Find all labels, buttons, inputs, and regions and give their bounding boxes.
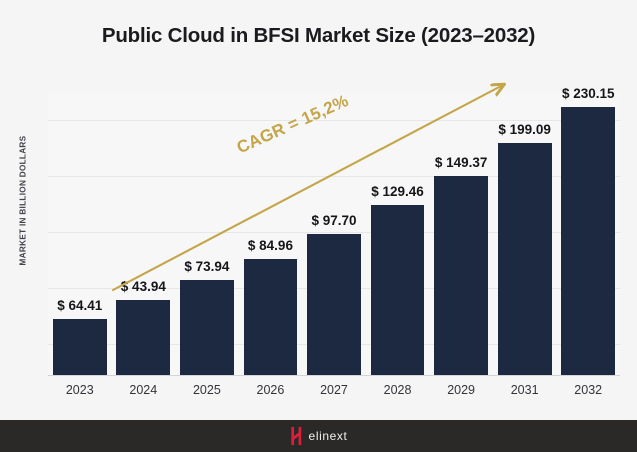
bar: [561, 107, 615, 375]
chart-card: Public Cloud in BFSI Market Size (2023–2…: [0, 0, 637, 420]
bar-value-label: $ 84.96: [220, 238, 322, 253]
bar-value-label: $ 73.94: [156, 259, 258, 274]
page-title: Public Cloud in BFSI Market Size (2023–2…: [0, 24, 637, 48]
y-axis-label: MARKET IN BILLION DOLLARS: [19, 116, 28, 286]
footer-bar: elinext: [0, 420, 637, 452]
bar: [498, 143, 552, 375]
x-axis-tick-label: 2028: [366, 383, 430, 397]
bar-value-label: $ 129.46: [347, 184, 449, 199]
bar: [53, 319, 107, 375]
bar-value-label: $ 230.15: [537, 86, 637, 101]
bar: [244, 259, 298, 375]
bar: [371, 205, 425, 375]
bar: [180, 280, 234, 375]
x-axis-tick-label: 2032: [556, 383, 620, 397]
bar-value-label: $ 149.37: [410, 155, 512, 170]
x-axis-line: [48, 375, 620, 376]
x-axis-tick-label: 2026: [239, 383, 303, 397]
bar: [434, 176, 488, 375]
x-axis-tick-label: 2025: [175, 383, 239, 397]
bar: [307, 234, 361, 375]
brand-logo[interactable]: elinext: [290, 427, 348, 445]
x-axis-tick-label: 2027: [302, 383, 366, 397]
gridline: [48, 120, 620, 121]
bar-value-label: $ 199.09: [474, 122, 576, 137]
x-axis-tick-label: 2029: [429, 383, 493, 397]
elinext-logo-icon: [290, 427, 303, 445]
x-axis-tick-label: 2024: [112, 383, 176, 397]
x-axis-tick-label: 2031: [493, 383, 557, 397]
brand-wordmark: elinext: [309, 429, 348, 443]
x-axis-tick-label: 2023: [48, 383, 112, 397]
bar-value-label: $ 43.94: [92, 279, 194, 294]
bar-value-label: $ 97.70: [283, 213, 385, 228]
bar-value-label: $ 64.41: [29, 298, 131, 313]
